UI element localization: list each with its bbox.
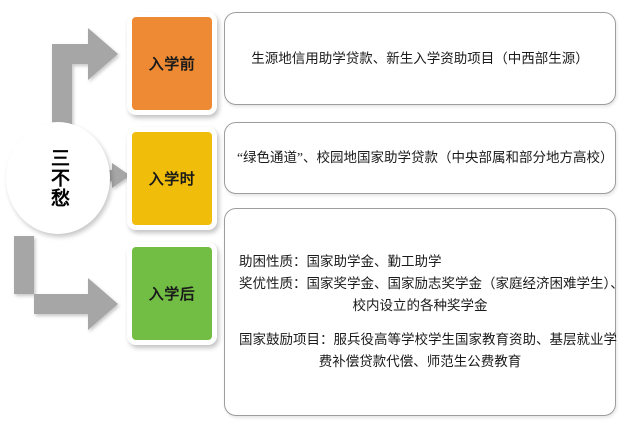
diagram-canvas: 三不愁 入学前 入学时 入学后 生源地信用助学贷款、新生入学资助项目（中西部生源… — [0, 0, 640, 426]
detail-line: 费补偿贷款代偿、师范生公费教育 — [225, 351, 615, 373]
detail-line: “绿色通道”、校园地国家助学贷款（中央部属和部分地方高校） — [225, 147, 615, 169]
detail-panel-at-enrollment: “绿色通道”、校园地国家助学贷款（中央部属和部分地方高校） — [224, 122, 616, 194]
arrow-to-after-enrollment — [6, 236, 128, 346]
stage-label-at-enrollment: 入学时 — [149, 168, 196, 189]
detail-line: 助困性质：国家助学金、勤工助学 — [225, 251, 615, 273]
detail-line: 校内设立的各种奖学金 — [225, 295, 615, 317]
detail-panel-before-enrollment: 生源地信用助学贷款、新生入学资助项目（中西部生源） — [224, 12, 616, 105]
detail-line: 奖优性质：国家奖学金、国家励志奖学金（家庭经济困难学生）、 — [225, 273, 615, 295]
detail-panel-after-enrollment: 助困性质：国家助学金、勤工助学 奖优性质：国家奖学金、国家励志奖学金（家庭经济困… — [224, 208, 616, 416]
stage-label-before-enrollment: 入学前 — [149, 53, 196, 74]
root-node-label: 三不愁 — [48, 148, 68, 208]
detail-line: 生源地信用助学贷款、新生入学资助项目（中西部生源） — [225, 48, 615, 70]
stage-box-before-enrollment[interactable]: 入学前 — [127, 12, 217, 115]
detail-line: 国家鼓励项目：服兵役高等学校学生国家教育资助、基层就业学 — [225, 329, 615, 351]
stage-box-at-enrollment[interactable]: 入学时 — [127, 127, 217, 230]
stage-box-after-enrollment[interactable]: 入学后 — [127, 242, 217, 345]
root-node-ellipse: 三不愁 — [6, 122, 110, 234]
stage-label-after-enrollment: 入学后 — [149, 283, 196, 304]
